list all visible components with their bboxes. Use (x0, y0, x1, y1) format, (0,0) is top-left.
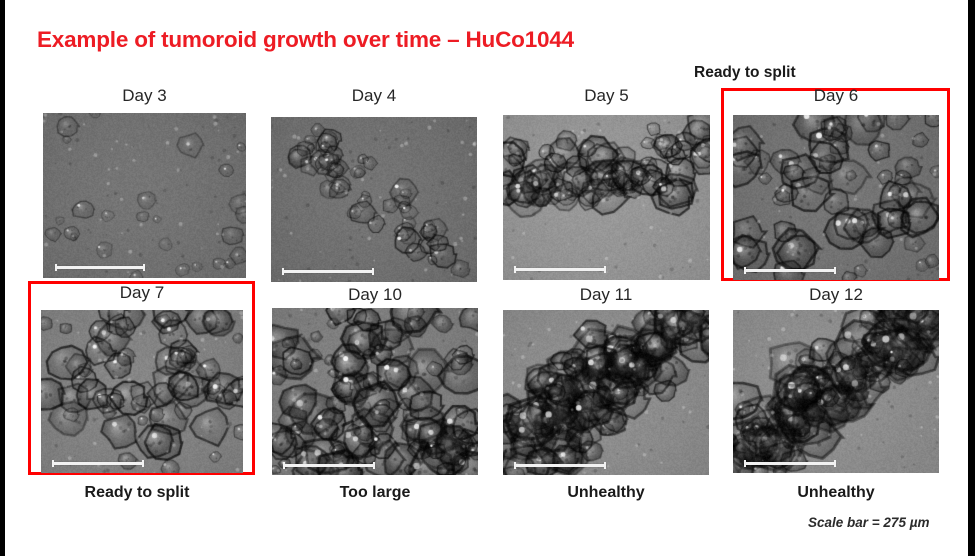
scale-bar-day6 (744, 269, 836, 272)
panel-label-day12: Day 12 (733, 285, 939, 305)
panel-label-day3: Day 3 (43, 86, 246, 106)
panel-day4[interactable]: Day 4 (271, 86, 477, 282)
panel-label-day11: Day 11 (503, 285, 709, 305)
micrograph-day11 (503, 310, 709, 475)
panel-label-day6: Day 6 (733, 86, 939, 106)
panel-day3[interactable]: Day 3 (43, 86, 246, 278)
scale-bar-day11 (514, 464, 606, 467)
panel-label-day10: Day 10 (272, 285, 478, 305)
micrograph-day3 (43, 113, 246, 278)
caption-day11: Unhealthy (516, 484, 696, 502)
scale-bar-day3 (55, 266, 145, 269)
panel-label-day7: Day 7 (41, 283, 243, 303)
page-title: Example of tumoroid growth over time – H… (37, 27, 574, 53)
annotation-ready-to-split-top: Ready to split (694, 64, 796, 82)
micrograph-day10 (272, 308, 478, 475)
panel-day12[interactable]: Day 12 (733, 285, 939, 473)
scale-bar-day5 (514, 268, 606, 271)
caption-day10: Too large (285, 484, 465, 502)
panel-day7[interactable]: Day 7 (41, 283, 243, 475)
micrograph-day4 (271, 117, 477, 282)
scale-bar-note: Scale bar = 275 µm (808, 515, 929, 530)
micrograph-day5 (503, 115, 710, 280)
scale-bar-day10 (283, 464, 375, 467)
panel-day11[interactable]: Day 11 (503, 285, 709, 475)
panel-label-day5: Day 5 (503, 86, 710, 106)
panel-day6[interactable]: Day 6 (733, 86, 939, 280)
scale-bar-day4 (282, 270, 374, 273)
panel-label-day4: Day 4 (271, 86, 477, 106)
right-edge-bar (968, 0, 975, 556)
micrograph-day7 (41, 310, 243, 473)
scale-bar-day12 (744, 462, 836, 465)
left-edge-bar (0, 0, 5, 556)
caption-day12: Unhealthy (746, 484, 926, 502)
panel-day5[interactable]: Day 5 (503, 86, 710, 280)
micrograph-day6 (733, 115, 939, 280)
scale-bar-day7 (52, 462, 144, 465)
panel-day10[interactable]: Day 10 (272, 285, 478, 475)
caption-day7: Ready to split (47, 484, 227, 502)
micrograph-day12 (733, 310, 939, 473)
